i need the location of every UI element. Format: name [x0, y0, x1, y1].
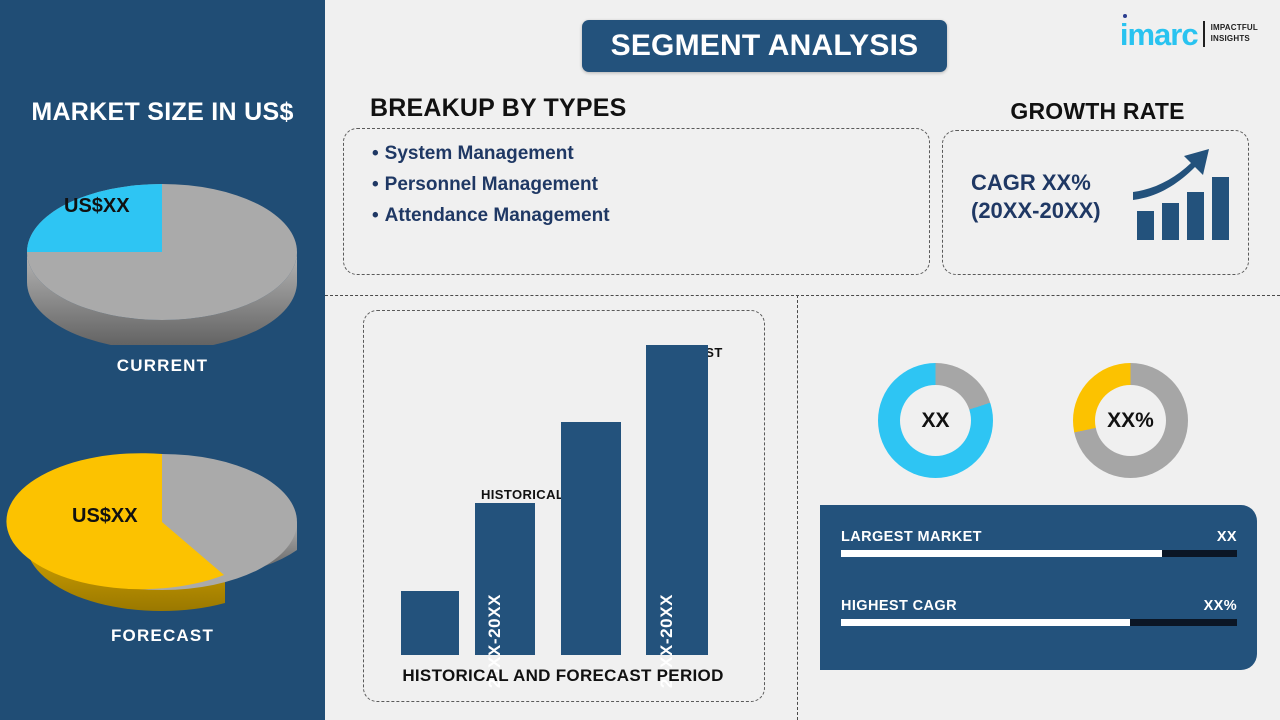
donut-value: XX%: [1107, 409, 1154, 433]
bullet-icon: •: [372, 174, 379, 195]
current-pie-chart: CURRENT: [0, 160, 325, 376]
metric-fill: [841, 550, 1162, 557]
metric-track: [841, 619, 1237, 626]
forecast-pie-caption: FORECAST: [0, 626, 325, 646]
bar-chart-caption: HISTORICAL AND FORECAST PERIOD: [363, 666, 763, 686]
cagr-text: CAGR XX% (20XX-20XX): [971, 169, 1101, 224]
list-item: •Attendance Management: [372, 205, 610, 227]
sidebar-title: MARKET SIZE IN US$: [0, 98, 325, 127]
list-item: •System Management: [372, 143, 610, 165]
current-pie-svg: [0, 160, 325, 345]
bar-chart: HISTORICAL 20XX-20XX FORECAST 20XX-20XX …: [363, 310, 763, 700]
logo-dot-icon: [1123, 14, 1127, 18]
list-item: •Personnel Management: [372, 174, 610, 196]
logo-tagline-line1: IMPACTFUL: [1211, 23, 1258, 34]
list-item-label: Attendance Management: [385, 205, 610, 226]
bar-3: 20XX-20XX: [646, 345, 708, 655]
growth-heading: GROWTH RATE: [945, 98, 1250, 125]
pie-slice-accent: [27, 184, 162, 252]
list-item-label: Personnel Management: [385, 174, 598, 195]
largest-market-donut: XX: [878, 363, 993, 478]
bar-annotation-historical: HISTORICAL: [481, 487, 564, 502]
metric-value: XX: [1217, 529, 1237, 545]
page-title-banner: SEGMENT ANALYSIS: [582, 20, 947, 72]
page-title: SEGMENT ANALYSIS: [611, 29, 919, 63]
bar-0: [401, 591, 459, 655]
highest-cagr-donut: XX%: [1073, 363, 1188, 478]
forecast-pie-svg: [0, 430, 325, 615]
metric-value: XX%: [1204, 598, 1237, 614]
logo-divider-icon: [1203, 21, 1205, 47]
types-list: •System Management •Personnel Management…: [372, 143, 610, 236]
logo-text: imarc: [1120, 17, 1198, 52]
donut-hole: XX%: [1095, 385, 1166, 456]
vertical-divider: [797, 295, 798, 720]
metric-highest-cagr: HIGHEST CAGR XX%: [841, 598, 1237, 626]
logo-tagline: IMPACTFUL INSIGHTS: [1211, 23, 1258, 45]
list-item-label: System Management: [385, 143, 574, 164]
metric-label: HIGHEST CAGR: [841, 598, 957, 614]
bar-1: 20XX-20XX: [475, 503, 535, 655]
current-pie-caption: CURRENT: [0, 356, 325, 376]
metric-row: LARGEST MARKET XX: [841, 529, 1237, 545]
growth-box: CAGR XX% (20XX-20XX): [942, 130, 1249, 275]
growth-arrow-bars-icon: [1129, 145, 1234, 250]
metric-largest-market: LARGEST MARKET XX: [841, 529, 1237, 557]
main-panel: SEGMENT ANALYSIS imarc IMPACTFUL INSIGHT…: [325, 0, 1280, 720]
imarc-logo: imarc IMPACTFUL INSIGHTS: [1120, 14, 1258, 54]
donut-hole: XX: [900, 385, 971, 456]
metric-fill: [841, 619, 1130, 626]
horizontal-divider: [325, 295, 1280, 296]
cagr-value: CAGR XX%: [971, 169, 1101, 197]
types-heading: BREAKUP BY TYPES: [370, 94, 627, 123]
metric-label: LARGEST MARKET: [841, 529, 982, 545]
sidebar: MARKET SIZE IN US$ CURRENT US$XX: [0, 0, 325, 720]
bullet-icon: •: [372, 143, 379, 164]
forecast-pie-chart: FORECAST: [0, 430, 325, 646]
logo-wordmark: imarc: [1120, 19, 1198, 50]
bullet-icon: •: [372, 205, 379, 226]
bar-2: [561, 422, 621, 655]
metric-row: HIGHEST CAGR XX%: [841, 598, 1237, 614]
logo-tagline-line2: INSIGHTS: [1211, 34, 1258, 45]
donut-value: XX: [921, 409, 949, 433]
cagr-period: (20XX-20XX): [971, 197, 1101, 225]
infographic-root: MARKET SIZE IN US$ CURRENT US$XX: [0, 0, 1280, 720]
metric-track: [841, 550, 1237, 557]
metrics-panel: LARGEST MARKET XX HIGHEST CAGR XX%: [820, 505, 1257, 670]
types-box: •System Management •Personnel Management…: [343, 128, 930, 275]
